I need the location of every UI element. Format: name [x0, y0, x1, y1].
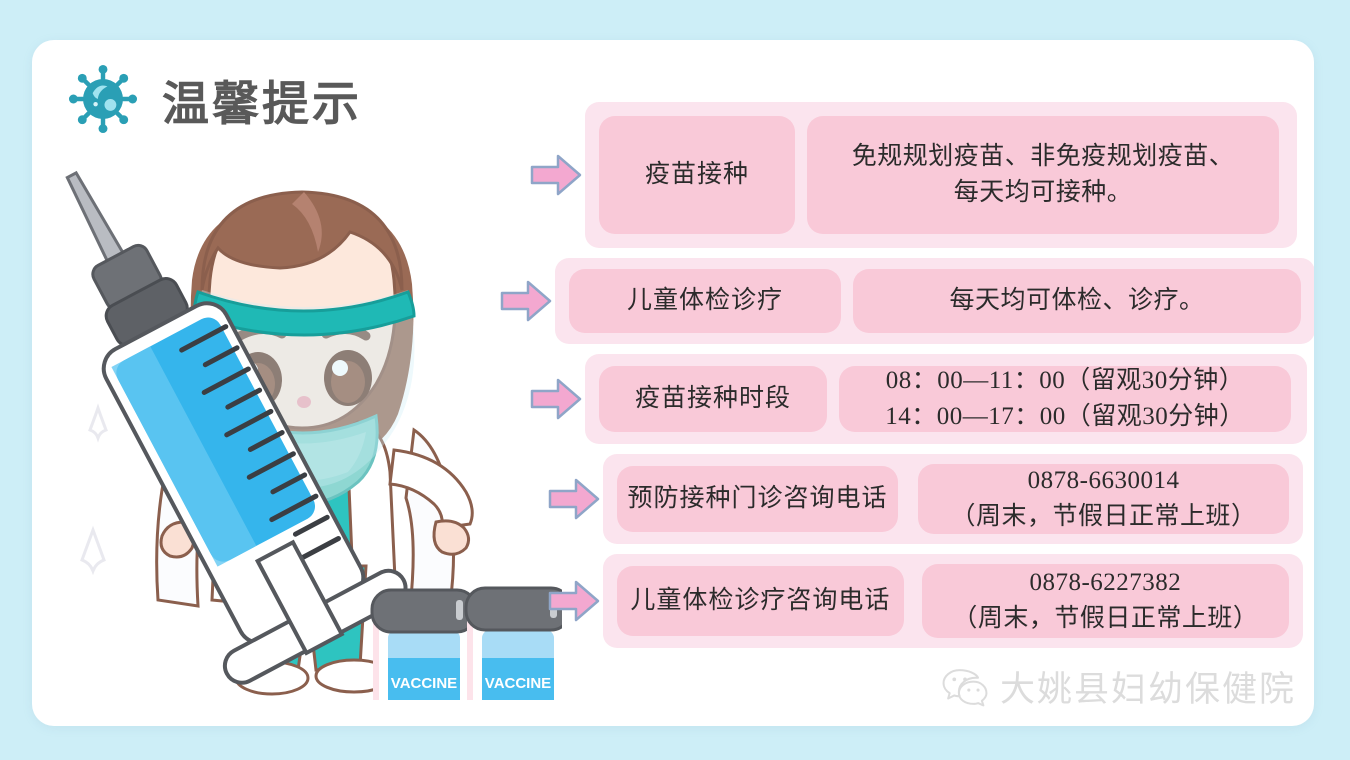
table-row: 儿童体检诊疗 每天均可体检、诊疗。	[497, 258, 1314, 344]
table-row: 疫苗接种 免规规划疫苗、非免疫规划疫苗、 每天均可接种。	[527, 102, 1314, 248]
row-label: 疫苗接种	[599, 116, 795, 234]
row-band: 预防接种门诊咨询电话 0878-6630014 （周末，节假日正常上班）	[603, 454, 1303, 544]
row-value-line: 0878-6227382	[1029, 565, 1181, 601]
row-value-line: 0878-6630014	[1028, 463, 1180, 499]
watermark: 大姚县妇幼保健院	[942, 661, 1296, 712]
wechat-icon	[942, 667, 988, 707]
vial-label-2: VACCINE	[485, 675, 551, 692]
arrow-right-icon	[527, 376, 585, 422]
row-value-line: 08：00—11：00（留观30分钟）	[886, 363, 1245, 399]
row-band: 疫苗接种时段 08：00—11：00（留观30分钟） 14：00—17：00（留…	[585, 354, 1307, 444]
table-row: 预防接种门诊咨询电话 0878-6630014 （周末，节假日正常上班）	[545, 454, 1314, 544]
nurse-with-syringe-illustration: VACCINE VACCINE	[42, 130, 562, 700]
row-value: 每天均可体检、诊疗。	[853, 269, 1301, 333]
row-value-line: （周末，节假日正常上班）	[952, 601, 1258, 637]
row-band: 疫苗接种 免规规划疫苗、非免疫规划疫苗、 每天均可接种。	[585, 102, 1297, 248]
row-value: 免规规划疫苗、非免疫规划疫苗、 每天均可接种。	[807, 116, 1279, 234]
row-value-line: 每天均可接种。	[954, 175, 1133, 211]
arrow-right-icon	[497, 278, 555, 324]
row-label: 预防接种门诊咨询电话	[617, 466, 898, 532]
table-row: 儿童体检诊疗咨询电话 0878-6227382 （周末，节假日正常上班）	[545, 554, 1314, 648]
row-label: 儿童体检诊疗咨询电话	[617, 566, 904, 636]
page-title: 温馨提示	[162, 65, 362, 134]
row-value-line: 14：00—17：00（留观30分钟）	[885, 399, 1245, 435]
info-rows: 疫苗接种 免规规划疫苗、非免疫规划疫苗、 每天均可接种。 儿童体检诊疗 每天均可…	[527, 102, 1314, 658]
arrow-right-icon	[545, 476, 603, 522]
row-value-line: （周末，节假日正常上班）	[951, 499, 1257, 535]
row-label: 儿童体检诊疗	[569, 269, 841, 333]
row-band: 儿童体检诊疗 每天均可体检、诊疗。	[555, 258, 1314, 344]
header: 温馨提示	[66, 62, 362, 136]
arrow-right-icon	[527, 152, 585, 198]
row-value-line: 免规规划疫苗、非免疫规划疫苗、	[852, 139, 1235, 175]
arrow-right-icon	[545, 578, 603, 624]
row-value: 0878-6630014 （周末，节假日正常上班）	[918, 464, 1289, 534]
row-band: 儿童体检诊疗咨询电话 0878-6227382 （周末，节假日正常上班）	[603, 554, 1303, 648]
row-label: 疫苗接种时段	[599, 366, 827, 432]
poster-stage: 温馨提示	[0, 0, 1350, 760]
watermark-text: 大姚县妇幼保健院	[1000, 661, 1296, 712]
vial-label-1: VACCINE	[391, 675, 457, 692]
row-value: 08：00—11：00（留观30分钟） 14：00—17：00（留观30分钟）	[839, 366, 1291, 432]
virus-icon	[66, 62, 140, 136]
row-value: 0878-6227382 （周末，节假日正常上班）	[922, 564, 1289, 638]
content-card: 温馨提示	[32, 40, 1314, 726]
table-row: 疫苗接种时段 08：00—11：00（留观30分钟） 14：00—17：00（留…	[527, 354, 1314, 444]
